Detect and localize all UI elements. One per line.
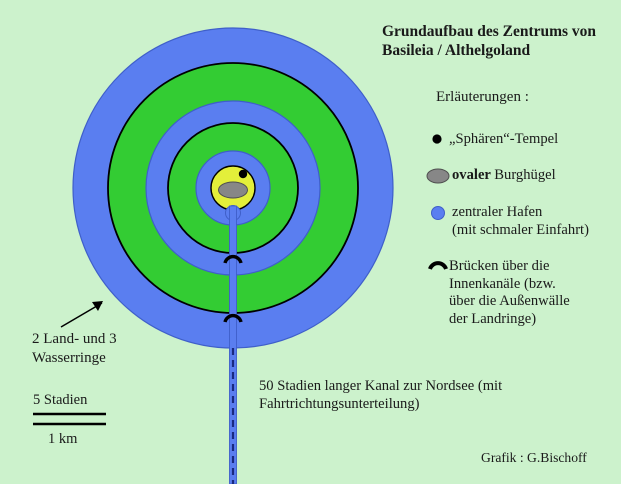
legend-blue-dot-icon [432,207,445,220]
legend-label: zentraler Hafen [452,204,589,222]
legend-item-bridges: Brücken über die Innenkanäle (bzw. über … [449,258,570,328]
legend-label: Brücken über die [449,258,570,276]
credit-line: Grafik : G.Bischoff [481,450,587,466]
legend-item-sphere-temple: „Sphären“-Tempel [449,131,558,149]
canal-annotation: 50 Stadien langer Kanal zur Nordsee (mit… [259,377,559,413]
legend-heading: Erläuterungen : [436,89,529,106]
castle-hill [219,182,248,198]
rings-annotation: 2 Land- und 3 Wasserringe [32,330,182,368]
legend-label: ovaler Burghügel [452,167,556,185]
legend-label-emphasis: ovaler [452,167,494,183]
scale-bar-bottom-label: 1 km [48,431,77,448]
page-title: Grundaufbau des Zentrums von Basileia / … [382,22,612,60]
legend-label-rest: Burghügel [494,167,555,183]
legend-item-central-harbor: zentraler Hafen (mit schmaler Einfahrt) [452,204,589,239]
legend-label-line4: der Landringe) [449,311,570,329]
legend-grey-ellipse-icon [427,169,449,183]
scale-bar-top-label: 5 Stadien [33,392,87,409]
legend-label-line2: Innenkanäle (bzw. [449,276,570,294]
sphere-temple [239,170,247,178]
legend-item-castle-hill: ovaler Burghügel [452,167,556,185]
rings-pointer-arrowhead [92,301,103,311]
legend-label: „Sphären“-Tempel [449,131,558,149]
legend-black-dot-icon [432,134,441,143]
diagram-canvas: Grundaufbau des Zentrums von Basileia / … [0,0,621,484]
legend-label-line2: (mit schmaler Einfahrt) [452,222,589,240]
canal-channel [230,206,237,484]
legend-bridge-arch-icon [430,263,446,269]
legend-label-line3: über die Außenwälle [449,293,570,311]
